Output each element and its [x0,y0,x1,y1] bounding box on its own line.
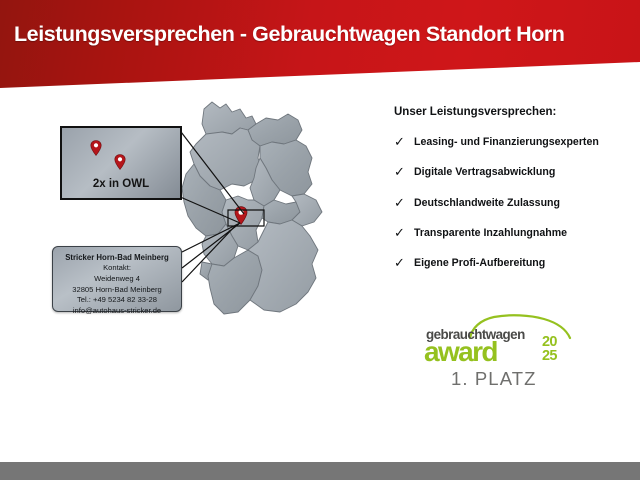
promise-item-label: Transparente Inzahlungnahme [414,226,567,240]
contact-info-box: Stricker Horn-Bad Meinberg Kontakt: Weid… [52,246,182,312]
page-title: Leistungsversprechen - Gebrauchtwagen St… [14,24,565,46]
contact-email: info@autohaus-stricker.de [53,306,181,317]
promise-item-label: Leasing- und Finanzierungsexperten [414,135,599,149]
owl-callout-label: 2x in OWL [62,178,180,190]
check-mark-icon: ✓ [394,226,414,241]
slide-root: Leistungsversprechen - Gebrauchtwagen St… [0,0,640,480]
promise-item: ✓ Transparente Inzahlungnahme [394,226,634,241]
award-year: 20 25 [542,335,557,363]
brand-logo-bar: Horn Nutzfahrzeuge Service SKODA Service [0,400,640,462]
germany-map [160,100,360,392]
promise-list: Unser Leistungsversprechen: ✓ Leasing- u… [394,106,634,287]
award-rank: 1. PLATZ [451,368,537,390]
check-mark-icon: ✓ [394,165,414,180]
main-canvas: 2x in OWL Stricker Horn-Bad Meinberg Kon… [0,92,640,400]
contact-phone: Tel.: +49 5234 82 33-28 [53,295,181,306]
check-mark-icon: ✓ [394,196,414,211]
promise-item: ✓ Leasing- und Finanzierungsexperten [394,135,634,150]
header-banner: Leistungsversprechen - Gebrauchtwagen St… [0,0,640,92]
map-pin-icon [114,154,126,170]
promise-item-label: Digitale Vertragsabwicklung [414,165,555,179]
contact-street: Weidenweg 4 [53,274,181,285]
contact-company-name: Stricker Horn-Bad Meinberg [53,252,181,263]
contact-kontakt-label: Kontakt: [53,263,181,274]
promise-item: ✓ Deutschlandweite Zulassung [394,196,634,211]
promise-item-label: Eigene Profi-Aufbereitung [414,256,545,270]
gebrauchtwagen-award-badge: gebrauchtwagen award 20 25 1. PLATZ [424,314,574,392]
promise-item-label: Deutschlandweite Zulassung [414,196,560,210]
award-year-bottom: 25 [542,349,557,363]
promise-item: ✓ Digitale Vertragsabwicklung [394,165,634,180]
promise-list-title: Unser Leistungsversprechen: [394,106,634,118]
owl-callout-box: 2x in OWL [60,126,182,200]
check-mark-icon: ✓ [394,135,414,150]
map-pin-icon [234,206,248,225]
check-mark-icon: ✓ [394,256,414,271]
map-pin-icon [90,140,102,156]
award-main-word: award [424,338,497,366]
bottom-gray-bar [0,462,640,480]
award-year-top: 20 [542,335,557,349]
promise-item: ✓ Eigene Profi-Aufbereitung [394,256,634,271]
contact-city: 32805 Horn-Bad Meinberg [53,285,181,296]
